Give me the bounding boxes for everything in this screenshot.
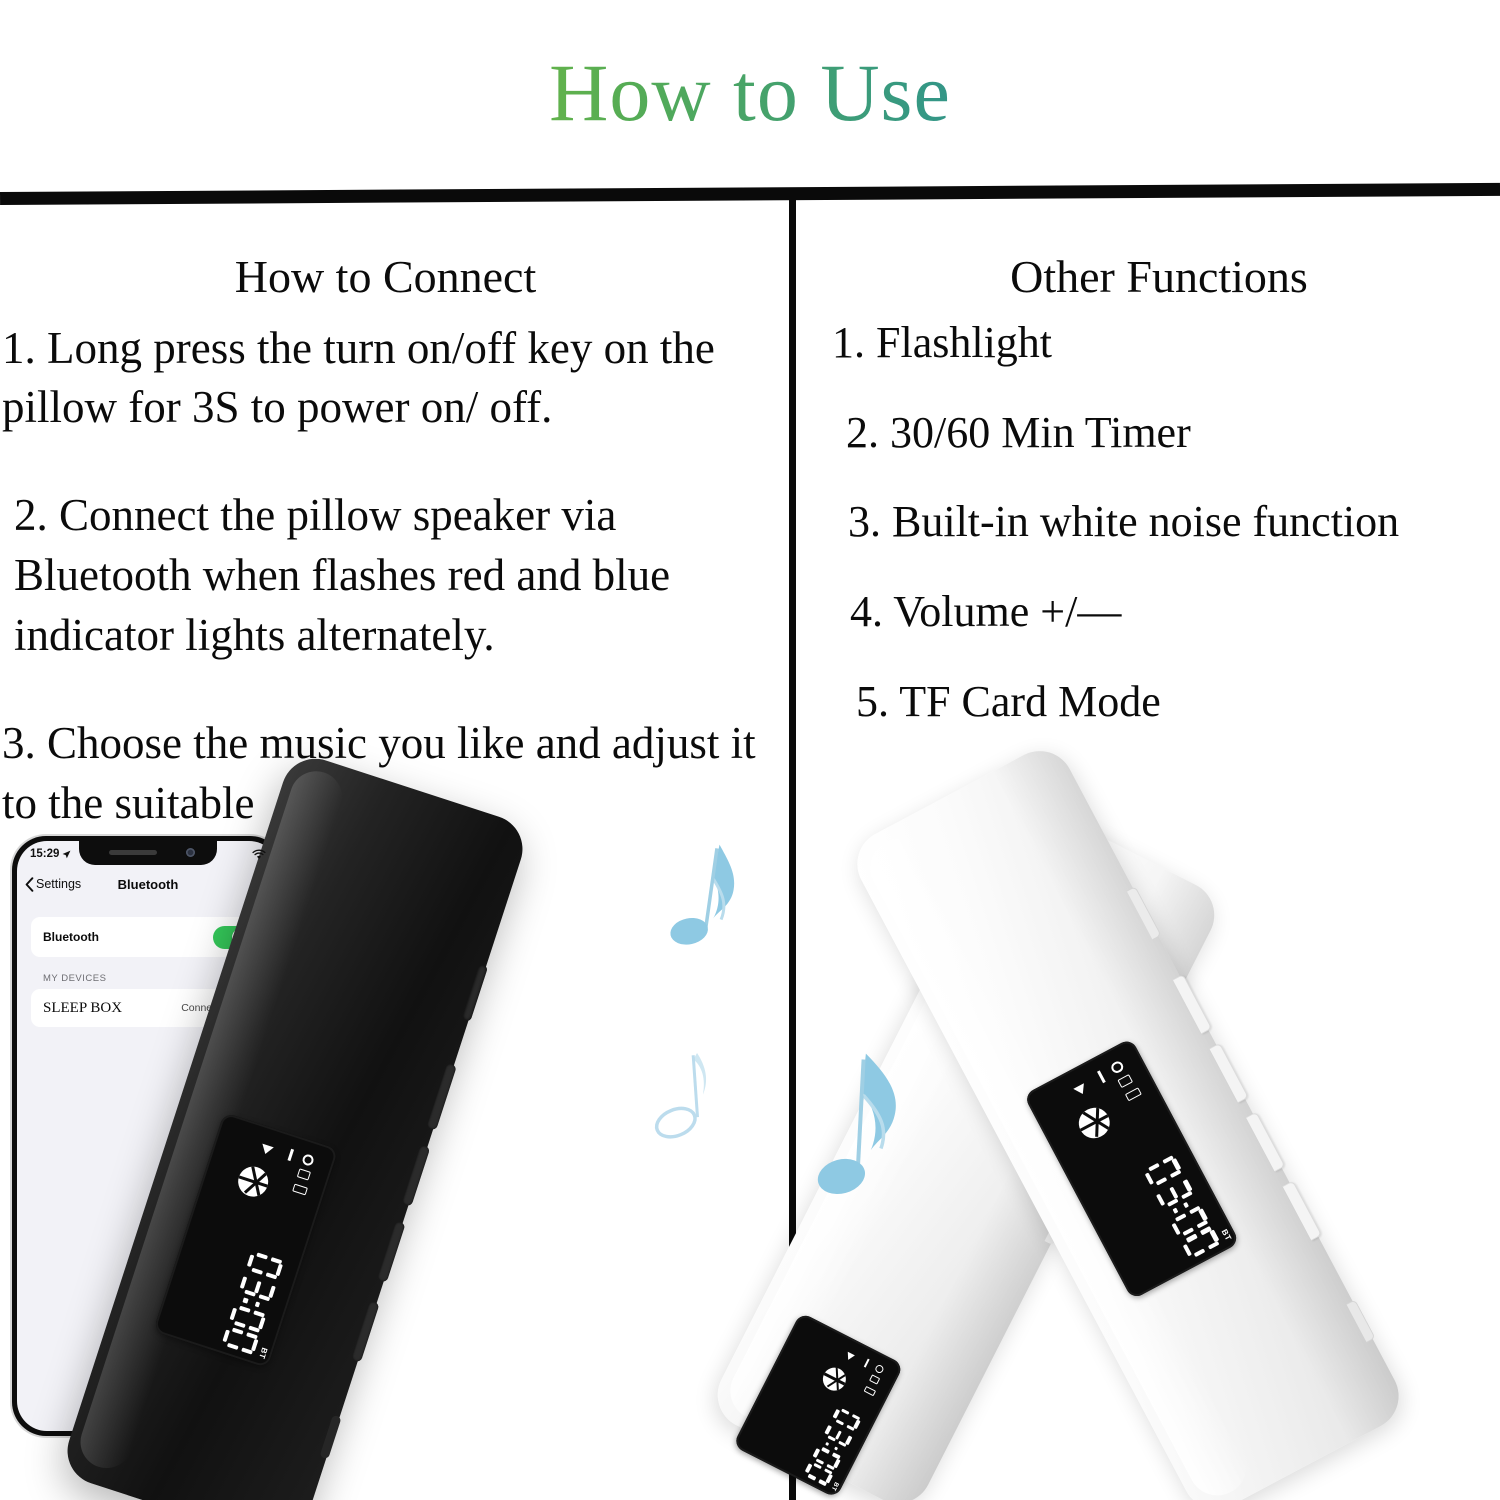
bt-indicator: BT (829, 1481, 839, 1492)
chevron-left-icon (25, 877, 34, 892)
functions-list: 1. Flashlight 2. 30/60 Min Timer 3. Buil… (796, 317, 1500, 729)
play-triangle-icon (844, 1352, 854, 1362)
gear-icon (874, 1363, 886, 1375)
led-time (221, 1251, 284, 1356)
function-item: 5. TF Card Mode (828, 676, 1500, 728)
battery-icon (1125, 1087, 1141, 1101)
device-name: SLEEP BOX (43, 1000, 122, 1017)
connect-step-1: 1. Long press the turn on/off key on the… (0, 319, 789, 439)
left-column: How to Connect 1. Long press the turn on… (0, 200, 789, 834)
gear-icon (301, 1153, 315, 1167)
equalizer-icon (1097, 1070, 1105, 1082)
function-item: 1. Flashlight (828, 317, 1500, 369)
infographic-page: How to Use How to Connect 1. Long press … (0, 0, 1500, 1500)
bluetooth-row-label: Bluetooth (43, 930, 99, 944)
led-time (803, 1406, 862, 1487)
page-title: How to Use (0, 52, 1500, 134)
play-triangle-icon (260, 1144, 274, 1156)
location-arrow-icon (62, 850, 71, 859)
my-devices-header: MY DEVICES (43, 973, 106, 984)
header: How to Use (0, 0, 1500, 196)
battery-icon (292, 1184, 308, 1196)
side-button (377, 1221, 406, 1283)
equalizer-icon (864, 1359, 870, 1368)
pinwheel-icon (234, 1163, 272, 1201)
function-item: 4. Volume +/— (828, 586, 1500, 638)
back-button-label: Settings (36, 877, 81, 891)
phone-notch (79, 841, 217, 865)
function-item: 3. Built-in white noise function (828, 496, 1500, 548)
bt-indicator: BT (1220, 1228, 1234, 1243)
side-button (426, 1063, 457, 1131)
music-note-icon (816, 1045, 928, 1210)
battery-icon (863, 1386, 876, 1397)
function-item: 2. 30/60 Min Timer (828, 407, 1500, 459)
usb-port (319, 1415, 341, 1460)
gear-icon (1110, 1060, 1125, 1075)
sd-card-icon (1118, 1074, 1133, 1088)
connect-step-2: 2. Connect the pillow speaker via Blueto… (0, 486, 789, 666)
status-bar-left: 15:29 (30, 848, 71, 860)
side-button (402, 1145, 431, 1207)
ios-nav-bar: Bluetooth Settings (17, 867, 279, 901)
equalizer-icon (287, 1149, 294, 1161)
right-column-heading: Other Functions (796, 252, 1500, 303)
tf-card-slot (462, 964, 488, 1022)
side-button (351, 1301, 380, 1363)
earpiece-grille-icon (109, 850, 157, 855)
right-column: Other Functions 1. Flashlight 2. 30/60 M… (796, 200, 1500, 766)
front-camera-icon (186, 848, 195, 857)
wifi-icon (252, 849, 266, 860)
play-triangle-icon (1073, 1084, 1088, 1098)
back-button[interactable]: Settings (25, 877, 81, 892)
pinwheel-icon (819, 1363, 850, 1394)
music-note-icon (664, 833, 758, 963)
status-bar-time: 15:29 (30, 848, 59, 860)
bt-indicator: BT (257, 1346, 269, 1360)
music-note-icon (643, 1043, 726, 1148)
left-column-heading: How to Connect (0, 252, 789, 303)
sd-card-icon (869, 1375, 881, 1386)
sd-card-icon (297, 1168, 311, 1180)
pinwheel-icon (1074, 1102, 1115, 1143)
